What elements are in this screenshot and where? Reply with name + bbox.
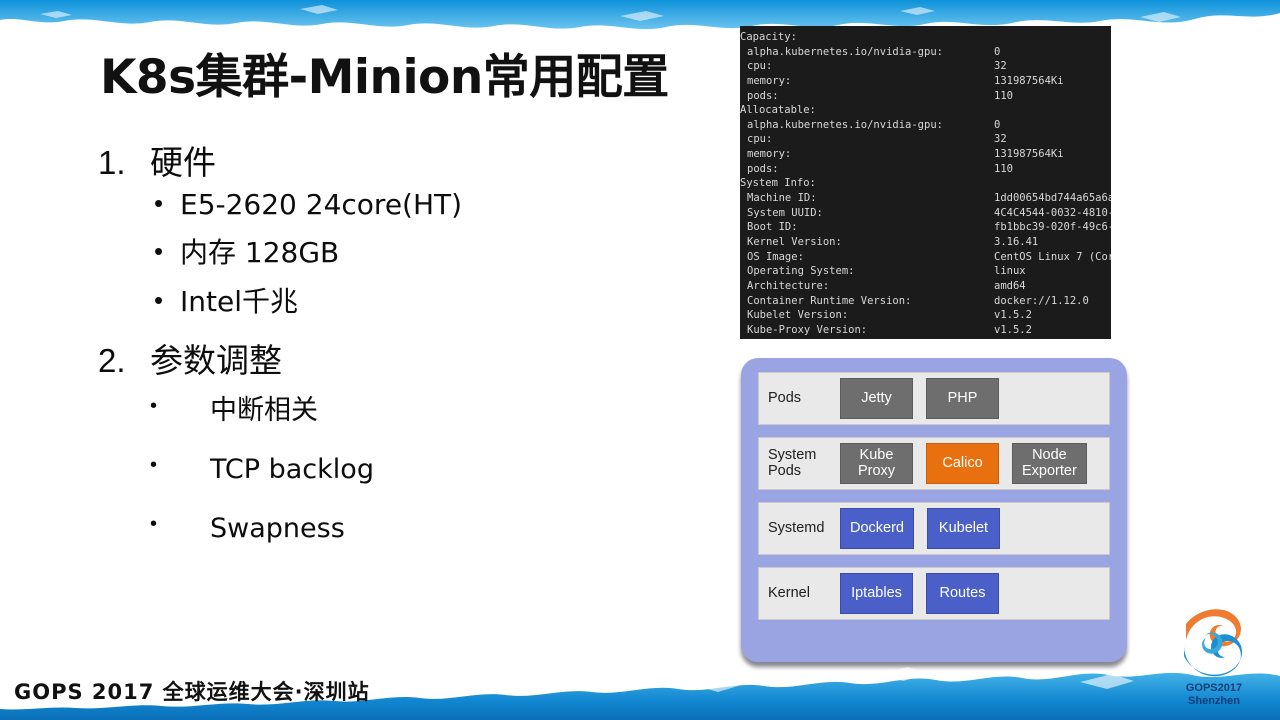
- outline-sublist-hardware: • E5-2620 24core(HT) • 内存 128GB • Intel千…: [98, 189, 718, 318]
- list-item: • 中断相关: [150, 395, 718, 426]
- diagram-component-box: Jetty: [840, 378, 913, 419]
- terminal-line-value: linux: [994, 264, 1026, 279]
- terminal-line-value: 3.16.41: [994, 235, 1038, 250]
- terminal-line-value: 110: [994, 162, 1013, 177]
- terminal-line-key: alpha.kubernetes.io/nvidia-gpu:: [740, 119, 943, 131]
- outline-heading: 硬件: [150, 142, 216, 183]
- terminal-line-key: Kubelet Version:: [740, 309, 848, 321]
- diagram-row-label: System Pods: [759, 448, 840, 480]
- diagram-row: KernelIptablesRoutes: [758, 567, 1110, 620]
- terminal-line: cpu:32: [740, 59, 1111, 74]
- terminal-line: Operating System:linux: [740, 264, 1111, 279]
- logo-caption-line1: GOPS2017: [1160, 682, 1268, 695]
- terminal-line-key: Capacity:: [740, 31, 797, 43]
- diagram-component-box: Kubelet: [927, 508, 1000, 549]
- terminal-line-key: alpha.kubernetes.io/nvidia-gpu:: [740, 46, 943, 58]
- list-item-label: Intel千兆: [180, 286, 298, 318]
- list-item-label: E5-2620 24core(HT): [180, 189, 462, 221]
- list-item-label: Swapness: [210, 513, 345, 544]
- terminal-line-key: Kernel Version:: [740, 236, 842, 248]
- diagram-component-label: Dockerd: [850, 521, 904, 536]
- diagram-component-box: Dockerd: [840, 508, 914, 549]
- diagram-component-label: Kube Proxy: [858, 448, 895, 478]
- terminal-line-key: System Info:: [740, 177, 816, 189]
- terminal-line-value: 131987564Ki: [994, 147, 1064, 162]
- diagram-component-label: Routes: [940, 586, 986, 601]
- diagram-component-label: Node Exporter: [1022, 448, 1077, 478]
- terminal-line-value: v1.5.2: [994, 308, 1032, 323]
- footer-conference-title: GOPS 2017 全球运维大会·深圳站: [14, 676, 370, 706]
- terminal-line: Architecture:amd64: [740, 279, 1111, 294]
- terminal-line-value: 32: [994, 59, 1007, 74]
- terminal-line: System UUID:4C4C4544-0032-4810-804D-: [740, 206, 1111, 221]
- diagram-row-label: Pods: [759, 391, 840, 407]
- outline-heading-row: 1. 硬件: [98, 142, 718, 183]
- diagram-component-label: Jetty: [861, 391, 892, 406]
- terminal-line-value: amd64: [994, 279, 1026, 294]
- logo-caption-line2: Shenzhen: [1160, 695, 1268, 708]
- bullet-icon: •: [150, 454, 210, 477]
- terminal-line: memory:131987564Ki: [740, 147, 1111, 162]
- terminal-line-key: System UUID:: [740, 207, 823, 219]
- diagram-row-label: Kernel: [759, 586, 840, 602]
- gops-swirl-logo-icon: [1174, 606, 1254, 684]
- node-architecture-diagram: PodsJettyPHPSystem PodsKube ProxyCalicoN…: [741, 358, 1127, 662]
- bullet-icon: •: [154, 286, 180, 316]
- list-item: • E5-2620 24core(HT): [154, 189, 718, 221]
- diagram-component-box: Routes: [926, 573, 999, 614]
- diagram-box-group: IptablesRoutes: [840, 573, 999, 614]
- diagram-component-label: Iptables: [851, 586, 902, 601]
- terminal-line-value: docker://1.12.0: [994, 294, 1089, 309]
- slide-canvas: K8s集群-Minion常用配置 1. 硬件 • E5-2620 24core(…: [0, 0, 1280, 720]
- diagram-component-box: Calico: [926, 443, 999, 484]
- diagram-box-group: JettyPHP: [840, 378, 999, 419]
- terminal-line: alpha.kubernetes.io/nvidia-gpu:0: [740, 45, 1111, 60]
- outline-heading-row: 2. 参数调整: [98, 340, 718, 381]
- bullet-icon: •: [154, 237, 180, 267]
- terminal-line-key: OS Image:: [740, 251, 804, 263]
- diagram-component-box: Iptables: [840, 573, 913, 614]
- diagram-row: System PodsKube ProxyCalicoNode Exporter: [758, 437, 1110, 490]
- list-item-label: 中断相关: [210, 395, 318, 426]
- conference-logo: GOPS2017 Shenzhen: [1160, 606, 1268, 714]
- diagram-box-group: Kube ProxyCalicoNode Exporter: [840, 443, 1087, 484]
- outline-marker: 2.: [98, 340, 150, 381]
- diagram-box-group: DockerdKubelet: [840, 508, 1000, 549]
- logo-caption: GOPS2017 Shenzhen: [1160, 682, 1268, 708]
- list-item: • Intel千兆: [154, 286, 718, 318]
- terminal-line-value: fb1bbc39-020f-49c6-a9a7-: [994, 220, 1111, 235]
- terminal-output-panel: Capacity:alpha.kubernetes.io/nvidia-gpu:…: [740, 26, 1111, 339]
- terminal-line-key: Architecture:: [740, 280, 829, 292]
- terminal-line-key: pods:: [740, 90, 779, 102]
- terminal-line: Boot ID:fb1bbc39-020f-49c6-a9a7-: [740, 220, 1111, 235]
- outline-sublist-tuning: • 中断相关 • TCP backlog • Swapness: [98, 395, 718, 544]
- terminal-line-value: 0: [994, 45, 1000, 60]
- terminal-line-key: Kube-Proxy Version:: [740, 324, 867, 336]
- terminal-line: Kubelet Version:v1.5.2: [740, 308, 1111, 323]
- list-item-label: 内存 128GB: [180, 237, 339, 269]
- terminal-line-value: 32: [994, 132, 1007, 147]
- terminal-line-key: cpu:: [740, 60, 772, 72]
- terminal-line-key: Machine ID:: [740, 192, 817, 204]
- bullet-icon: •: [150, 513, 210, 536]
- outline-group-tuning: 2. 参数调整 • 中断相关 • TCP backlog • Swapness: [98, 340, 718, 544]
- terminal-line-key: memory:: [740, 148, 791, 160]
- diagram-row-label: Systemd: [759, 521, 840, 537]
- terminal-line: Kernel Version:3.16.41: [740, 235, 1111, 250]
- terminal-line-value: 1dd00654bd744a65a6a94879: [994, 191, 1111, 206]
- terminal-line-value: 131987564Ki: [994, 74, 1064, 89]
- outline-marker: 1.: [98, 142, 150, 183]
- terminal-line: alpha.kubernetes.io/nvidia-gpu:0: [740, 118, 1111, 133]
- outline-group-hardware: 1. 硬件 • E5-2620 24core(HT) • 内存 128GB • …: [98, 142, 718, 318]
- terminal-line-value: v1.5.2: [994, 323, 1032, 338]
- terminal-line: Capacity:: [740, 30, 1111, 45]
- terminal-line-key: pods:: [740, 163, 779, 175]
- list-item: • TCP backlog: [150, 454, 718, 485]
- list-item: • Swapness: [150, 513, 718, 544]
- diagram-component-label: Kubelet: [939, 521, 988, 536]
- terminal-line: pods:110: [740, 89, 1111, 104]
- diagram-component-label: PHP: [948, 391, 978, 406]
- terminal-line: memory:131987564Ki: [740, 74, 1111, 89]
- slide-title: K8s集群-Minion常用配置: [100, 38, 669, 107]
- bullet-icon: •: [154, 189, 180, 219]
- bullet-icon: •: [150, 395, 210, 418]
- terminal-line-key: memory:: [740, 75, 791, 87]
- outline-content: 1. 硬件 • E5-2620 24core(HT) • 内存 128GB • …: [98, 142, 718, 572]
- terminal-line-value: 110: [994, 89, 1013, 104]
- diagram-component-box: PHP: [926, 378, 999, 419]
- terminal-line: Kube-Proxy Version:v1.5.2: [740, 323, 1111, 338]
- outline-heading: 参数调整: [150, 340, 282, 381]
- terminal-line: cpu:32: [740, 132, 1111, 147]
- terminal-line: OS Image:CentOS Linux 7 (Core): [740, 250, 1111, 265]
- terminal-line-value: 0: [994, 118, 1000, 133]
- diagram-component-box: Kube Proxy: [840, 443, 913, 484]
- terminal-line: Allocatable:: [740, 103, 1111, 118]
- terminal-line-key: Boot ID:: [740, 221, 798, 233]
- diagram-row: PodsJettyPHP: [758, 372, 1110, 425]
- terminal-line-key: cpu:: [740, 133, 772, 145]
- terminal-line-key: Allocatable:: [740, 104, 816, 116]
- diagram-row: SystemdDockerdKubelet: [758, 502, 1110, 555]
- list-item: • 内存 128GB: [154, 237, 718, 269]
- terminal-line: Machine ID:1dd00654bd744a65a6a94879: [740, 191, 1111, 206]
- terminal-line: System Info:: [740, 176, 1111, 191]
- diagram-component-box: Node Exporter: [1012, 443, 1087, 484]
- terminal-line-key: Operating System:: [740, 265, 854, 277]
- terminal-line-value: CentOS Linux 7 (Core): [994, 250, 1111, 265]
- terminal-line: Container Runtime Version:docker://1.12.…: [740, 294, 1111, 309]
- diagram-component-label: Calico: [942, 456, 982, 471]
- list-item-label: TCP backlog: [210, 454, 374, 485]
- terminal-line: pods:110: [740, 162, 1111, 177]
- terminal-line-value: 4C4C4544-0032-4810-804D-: [994, 206, 1111, 221]
- terminal-line-key: Container Runtime Version:: [740, 295, 911, 307]
